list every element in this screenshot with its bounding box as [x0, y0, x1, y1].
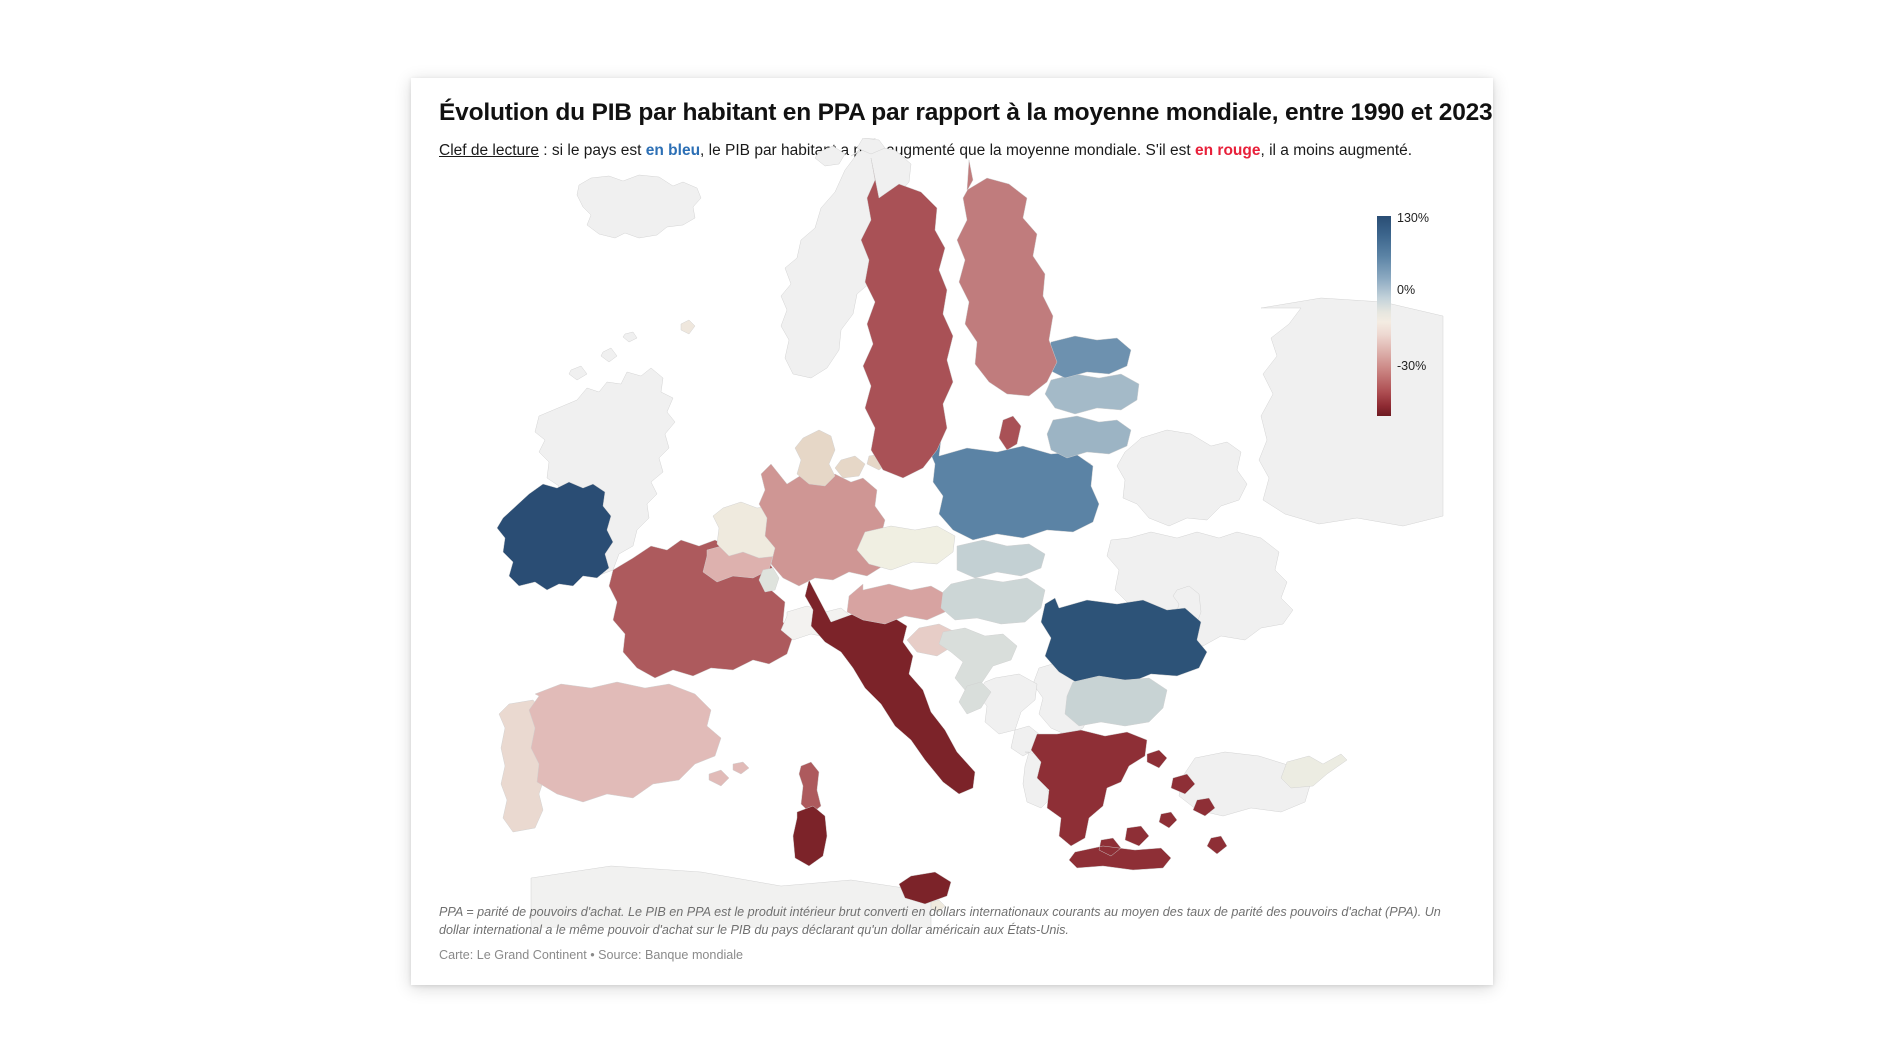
map-card: Évolution du PIB par habitant en PPA par…: [411, 78, 1493, 985]
region-BY[interactable]: [1117, 430, 1247, 526]
legend-label-max: 130%: [1397, 212, 1429, 225]
region-AT[interactable]: [847, 584, 949, 624]
region-IT-sardinia[interactable]: [793, 806, 827, 866]
region-ES[interactable]: [529, 682, 721, 802]
choropleth-map[interactable]: 130% 0% -30%: [411, 138, 1493, 928]
region-SE[interactable]: [861, 158, 953, 478]
region-FI[interactable]: [957, 160, 1057, 396]
region-BG[interactable]: [1065, 676, 1167, 726]
region-DK[interactable]: [795, 430, 835, 486]
screenshot-root: Évolution du PIB par habitant en PPA par…: [0, 0, 1892, 1062]
region-FR-corsica[interactable]: [799, 762, 821, 814]
region-LV[interactable]: [1045, 374, 1139, 414]
region-ES-balearic[interactable]: [709, 762, 749, 786]
region-BA[interactable]: [977, 674, 1037, 734]
region-SE-gotland[interactable]: [999, 416, 1021, 450]
region-SK[interactable]: [957, 540, 1045, 578]
legend-label-min: -30%: [1397, 360, 1426, 373]
map-card-inner: Évolution du PIB par habitant en PPA par…: [411, 78, 1493, 985]
region-CY[interactable]: [1281, 754, 1347, 788]
region-RO[interactable]: [1041, 598, 1207, 684]
region-IS[interactable]: [577, 175, 701, 238]
region-IE[interactable]: [497, 482, 613, 590]
footnote-credit: Carte: Le Grand Continent • Source: Banq…: [439, 947, 1467, 963]
legend-gradient-bar: [1377, 216, 1391, 416]
region-FO[interactable]: [681, 320, 695, 334]
region-HU[interactable]: [941, 578, 1045, 624]
footnotes: PPA = parité de pouvoirs d'achat. Le PIB…: [439, 904, 1467, 963]
region-EE[interactable]: [1047, 336, 1131, 378]
color-legend: 130% 0% -30%: [1377, 216, 1487, 436]
page-title: Évolution du PIB par habitant en PPA par…: [439, 98, 1465, 127]
region-LT[interactable]: [1047, 416, 1131, 458]
region-CZ[interactable]: [857, 526, 955, 570]
footnote-definition: PPA = parité de pouvoirs d'achat. Le PIB…: [439, 904, 1467, 940]
europe-map-svg[interactable]: [411, 138, 1493, 928]
legend-label-mid: 0%: [1397, 284, 1415, 297]
